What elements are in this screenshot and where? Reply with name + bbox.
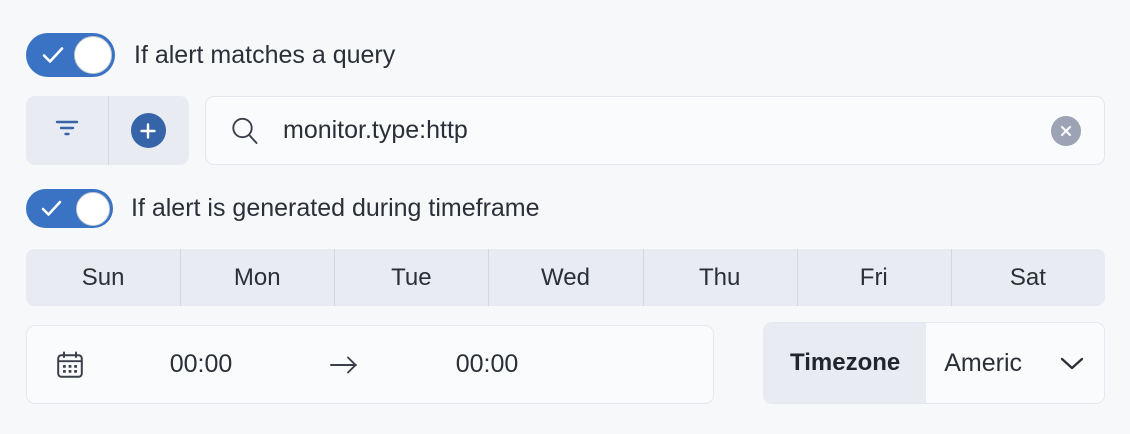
timezone-group: Timezone Americ — [763, 322, 1105, 404]
day-button-mon[interactable]: Mon — [180, 249, 334, 306]
day-of-week-selector: Sun Mon Tue Wed Thu Fri Sat — [26, 249, 1105, 306]
timezone-select[interactable]: Americ — [926, 323, 1104, 403]
chevron-down-icon — [1058, 354, 1086, 372]
time-range-field[interactable]: 00:00 00:00 — [26, 325, 714, 404]
alert-conditions-panel: If alert matches a query — [0, 0, 1130, 434]
day-button-sat[interactable]: Sat — [951, 249, 1105, 306]
toggle-knob — [74, 36, 112, 74]
query-condition-label: If alert matches a query — [134, 41, 395, 70]
toggle-if-alert-generated-during-timeframe[interactable] — [26, 189, 113, 228]
filter-icon — [54, 118, 80, 143]
timeframe-condition-label: If alert is generated during timeframe — [131, 194, 540, 223]
check-icon — [41, 199, 62, 223]
day-button-tue[interactable]: Tue — [334, 249, 488, 306]
filter-button[interactable] — [26, 96, 108, 165]
check-icon — [42, 45, 64, 70]
toggle-if-alert-matches-query[interactable] — [26, 33, 115, 77]
search-icon — [228, 114, 262, 148]
day-button-thu[interactable]: Thu — [643, 249, 797, 306]
end-time-input[interactable]: 00:00 — [372, 350, 602, 379]
day-button-sun[interactable]: Sun — [26, 249, 180, 306]
timezone-value: Americ — [944, 349, 1022, 378]
toggle-knob — [76, 192, 110, 226]
start-time-input[interactable]: 00:00 — [86, 350, 316, 379]
plus-icon — [131, 113, 166, 148]
query-filter-button-group — [26, 96, 189, 165]
add-filter-button[interactable] — [108, 96, 190, 165]
timezone-label: Timezone — [764, 323, 926, 403]
day-button-wed[interactable]: Wed — [488, 249, 642, 306]
timeframe-condition-row: If alert is generated during timeframe — [26, 189, 540, 228]
close-icon[interactable] — [1051, 116, 1081, 146]
calendar-icon — [54, 349, 86, 381]
query-search-field[interactable]: monitor.type:http — [205, 96, 1105, 165]
search-input[interactable]: monitor.type:http — [283, 116, 1051, 145]
query-condition-row: If alert matches a query — [26, 33, 395, 77]
arrow-right-icon — [316, 354, 372, 376]
day-button-fri[interactable]: Fri — [797, 249, 951, 306]
